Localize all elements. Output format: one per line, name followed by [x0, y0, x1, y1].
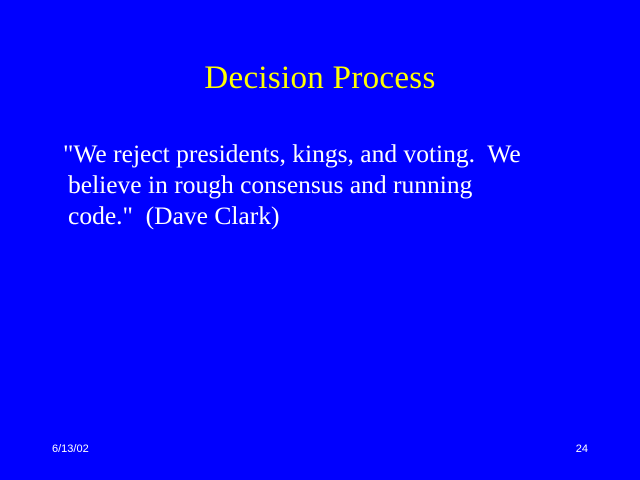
body-line-2: believe in rough consensus and running [63, 169, 608, 200]
body-line-1: "We reject presidents, kings, and voting… [63, 138, 608, 169]
footer-date: 6/13/02 [52, 443, 89, 456]
footer-page-number: 24 [560, 443, 588, 456]
slide-canvas: Decision Process "We reject presidents, … [0, 0, 640, 480]
body-line-3: code." (Dave Clark) [63, 200, 608, 231]
page-title: Decision Process [0, 58, 640, 98]
slide-body-text: "We reject presidents, kings, and voting… [63, 138, 608, 231]
